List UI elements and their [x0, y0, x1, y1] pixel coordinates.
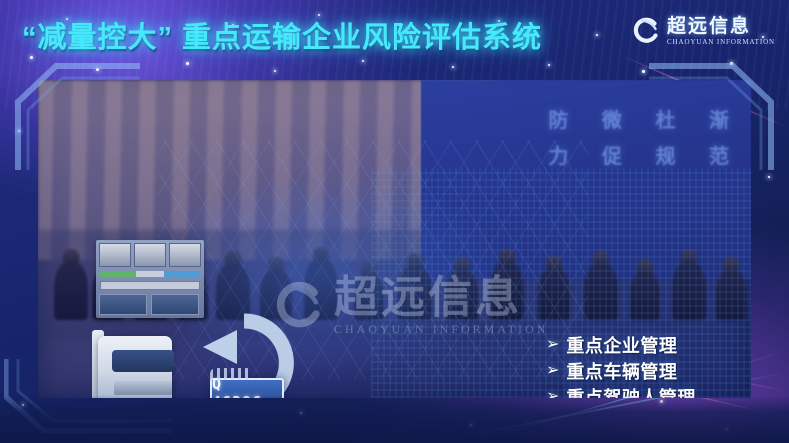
bottom-gradient-band	[0, 395, 789, 443]
brand-name-en: CHAOYUAN INFORMATION	[667, 39, 775, 46]
console-status-bar	[100, 271, 200, 277]
slide-header: “减量控大” 重点运输企业风险评估系统 超远信息 CHAOYUAN INFORM…	[0, 0, 789, 72]
brand-logo: 超远信息 CHAOYUAN INFORMATION	[630, 16, 775, 46]
console-camera-thumb	[169, 243, 201, 267]
list-item[interactable]: ➢ 重点企业管理	[546, 332, 751, 358]
truck-grille	[114, 381, 172, 395]
console-screen	[99, 294, 147, 315]
arrow-bullet-icon: ➢	[546, 337, 559, 353]
brand-logo-text: 超远信息 CHAOYUAN INFORMATION	[667, 17, 775, 46]
arrow-bullet-icon: ➢	[546, 389, 559, 398]
console-camera-thumb	[134, 243, 166, 267]
license-plate: Q 46396	[210, 378, 284, 398]
truck-photo	[90, 330, 186, 398]
truck-cab	[98, 336, 172, 398]
monitoring-console	[96, 240, 204, 318]
console-info-strip	[100, 281, 200, 290]
console-camera-thumb	[99, 243, 131, 267]
console-screens	[99, 294, 199, 315]
hero-photo: 防 微 杜 渐 力 促 规 范	[38, 80, 751, 398]
console-screen	[151, 294, 199, 315]
brand-name-cn: 超远信息	[667, 17, 775, 36]
stage-slogan-line1: 防 微 杜 渐	[548, 104, 743, 133]
list-item[interactable]: ➢ 重点驾驶人管理	[546, 384, 751, 398]
presentation-slide: “减量控大” 重点运输企业风险评估系统 超远信息 CHAOYUAN INFORM…	[0, 0, 789, 443]
hero-image-frame: 防 微 杜 渐 力 促 规 范	[38, 80, 751, 398]
stage-slogan-line2: 力 促 规 范	[548, 140, 743, 169]
list-item-label: 重点驾驶人管理	[566, 384, 696, 398]
plate-mount-clip	[210, 368, 252, 380]
list-item-label: 重点企业管理	[566, 332, 677, 358]
truck-windshield	[112, 350, 174, 372]
console-camera-thumbs	[99, 243, 201, 267]
list-item-label: 重点车辆管理	[566, 358, 677, 384]
chaoyuan-ring-logo-icon	[630, 16, 660, 46]
arrow-bullet-icon: ➢	[546, 363, 559, 379]
list-item[interactable]: ➢ 重点车辆管理	[546, 358, 751, 384]
page-title: “减量控大” 重点运输企业风险评估系统	[22, 14, 542, 56]
feature-list: ➢ 重点企业管理 ➢ 重点车辆管理 ➢ 重点驾驶人管理 ➢ 精细化工作分解 ➢	[546, 332, 751, 398]
